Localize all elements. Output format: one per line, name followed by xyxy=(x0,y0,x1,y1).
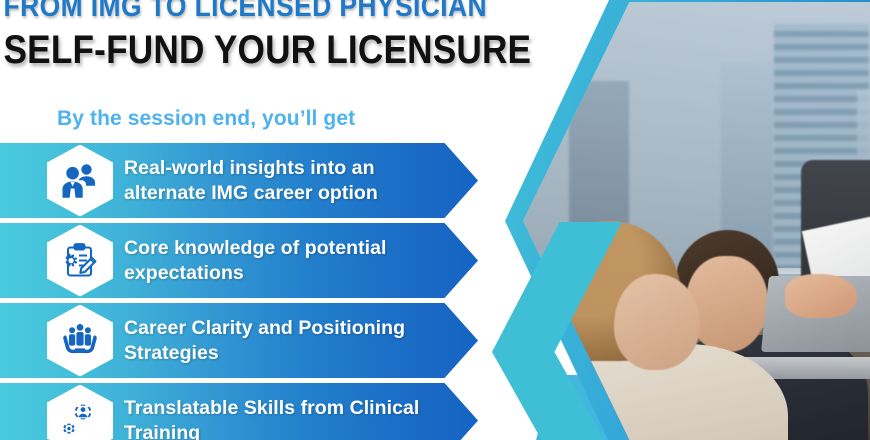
benefit-label: Translatable Skills from Clinical Traini… xyxy=(124,396,454,440)
benefits-list: Real-world insights into an alternate IM… xyxy=(0,143,480,440)
benefit-label: Real-world insights into an alternate IM… xyxy=(124,156,454,206)
benefit-row-4: Translatable Skills from Clinical Traini… xyxy=(0,383,478,440)
hands-holding-people-icon xyxy=(47,305,113,377)
person-blond-face xyxy=(614,274,700,370)
benefit-label: Career Clarity and Positioning Strategie… xyxy=(124,316,454,366)
gears-person-icon xyxy=(47,385,113,440)
page-title: SELF-FUND YOUR LICENSURE xyxy=(0,30,458,70)
person-dark-suit-face xyxy=(686,256,768,352)
subtitle-text: By the session end, you’ll get xyxy=(57,107,355,131)
benefit-row-2: Core knowledge of potential expectations xyxy=(0,223,478,298)
pointing-hand xyxy=(785,274,857,318)
clipboard-gear-pencil-icon xyxy=(47,225,113,297)
promo-banner: FROM IMG TO LICENSED PHYSICIAN SELF-FUND… xyxy=(0,0,870,440)
group-people-icon xyxy=(47,145,113,217)
benefit-label: Core knowledge of potential expectations xyxy=(124,236,454,286)
photo-image xyxy=(523,2,870,440)
headline-group: FROM IMG TO LICENSED PHYSICIAN SELF-FUND… xyxy=(0,0,520,70)
kicker-text: FROM IMG TO LICENSED PHYSICIAN xyxy=(0,0,458,22)
benefit-row-3: Career Clarity and Positioning Strategie… xyxy=(0,303,478,378)
benefit-row-1: Real-world insights into an alternate IM… xyxy=(0,143,478,218)
